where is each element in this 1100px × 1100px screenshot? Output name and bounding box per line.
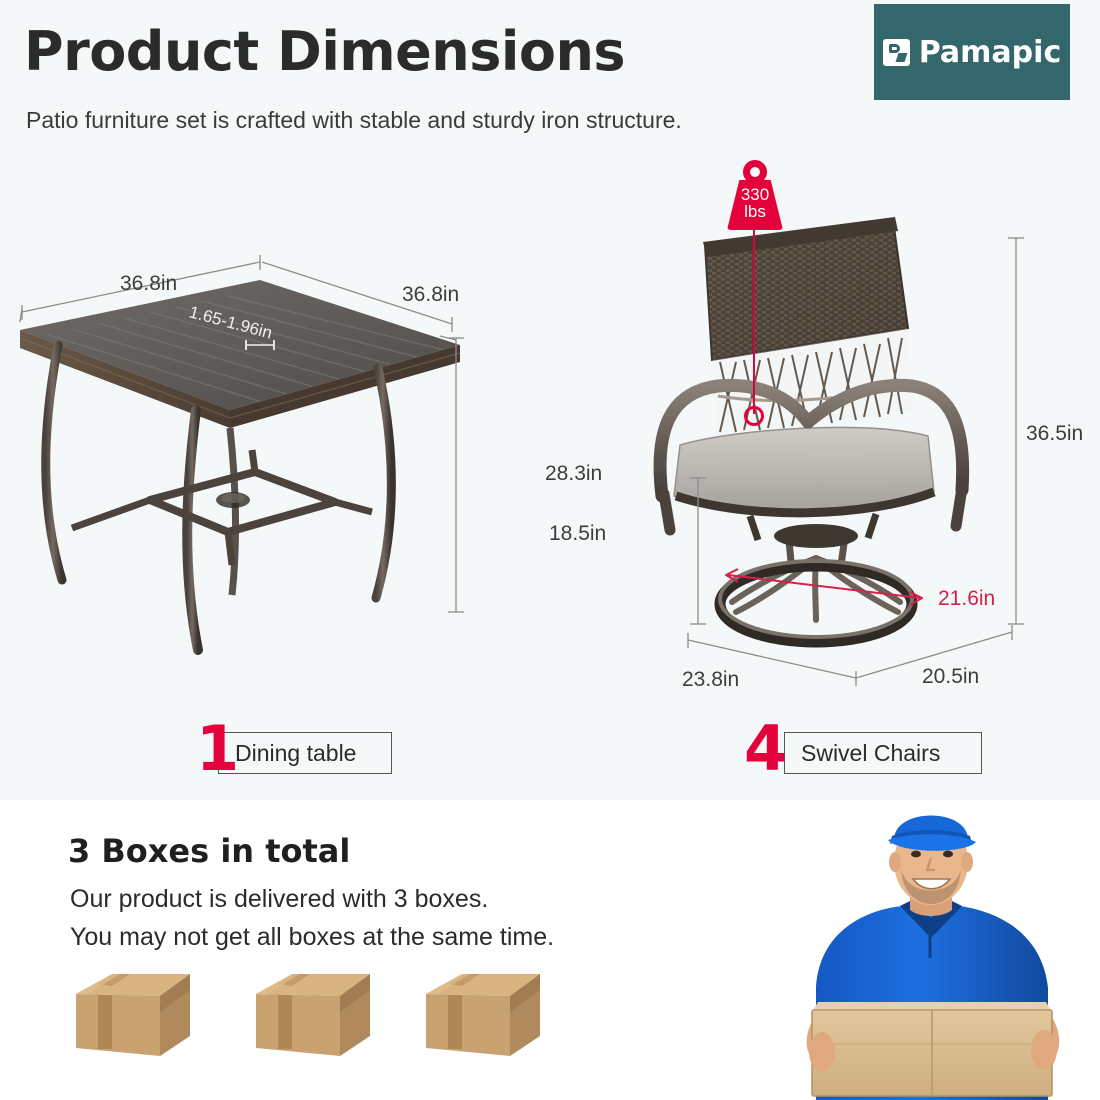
delivery-man-photo: [760, 806, 1100, 1100]
table-count-number: 1: [196, 718, 239, 780]
chair-seat-height-dimension: 18.5in: [549, 522, 606, 546]
pamapic-monogram-icon: [883, 39, 910, 66]
chair-dimension-lines: [620, 200, 1060, 700]
brand-name: Pamapic: [919, 35, 1061, 70]
chair-count-box: Swivel Chairs: [784, 732, 982, 774]
page-title: Product Dimensions: [24, 20, 625, 83]
table-count-box: Dining table: [218, 732, 392, 774]
table-height-dimension: 28.3in: [545, 462, 602, 486]
carton-icon: [418, 968, 548, 1064]
chair-width-dimension: 20.5in: [922, 665, 979, 689]
table-dimension-lines: [0, 250, 560, 670]
chair-count-number: 4: [744, 718, 787, 780]
boxes-line-2: You may not get all boxes at the same ti…: [70, 922, 554, 952]
page-subtitle: Patio furniture set is crafted with stab…: [26, 102, 746, 138]
table-depth-dimension: 36.8in: [402, 283, 459, 307]
brand-logo: Pamapic: [874, 4, 1070, 100]
chair-height-dimension: 36.5in: [1026, 422, 1083, 446]
carton-icon: [68, 968, 198, 1064]
chair-depth-dimension: 23.8in: [682, 668, 739, 692]
boxes-title: 3 Boxes in total: [68, 832, 350, 870]
chair-base-diameter-dimension: 21.6in: [938, 587, 995, 611]
carton-icon: [248, 968, 378, 1064]
table-width-dimension: 36.8in: [120, 272, 177, 296]
boxes-line-1: Our product is delivered with 3 boxes.: [70, 884, 488, 914]
table-count-text: Dining table: [235, 740, 356, 767]
chair-count-text: Swivel Chairs: [801, 740, 940, 767]
